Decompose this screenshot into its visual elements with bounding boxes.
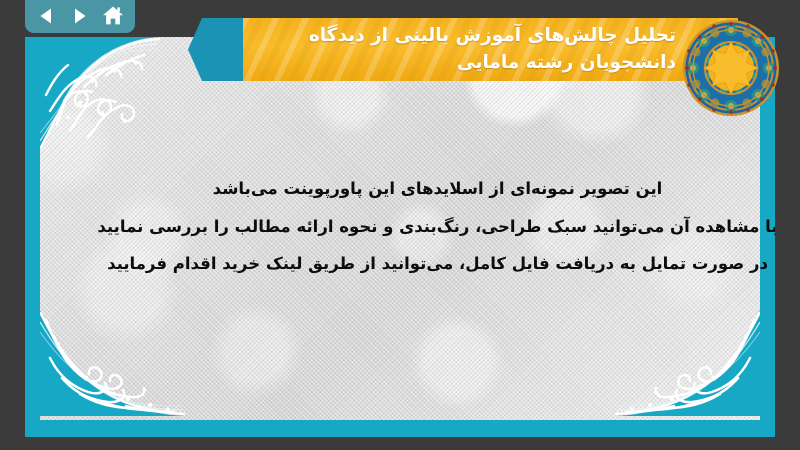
slide-title-banner: تحلیل چالش‌های آموزش بالینی از دیدگاه دا… bbox=[243, 18, 738, 81]
previous-slide-button[interactable] bbox=[34, 4, 60, 28]
triangle-right-icon bbox=[70, 6, 90, 26]
slide-title: تحلیل چالش‌های آموزش بالینی از دیدگاه دا… bbox=[243, 23, 738, 76]
title-line-1: تحلیل چالش‌های آموزش بالینی از دیدگاه bbox=[257, 23, 676, 49]
slide-body-text: این تصویر نمونه‌ای از اسلایدهای این پاور… bbox=[85, 170, 775, 283]
arabesque-bottom-right-icon bbox=[615, 306, 760, 420]
home-icon bbox=[102, 5, 124, 26]
slide-navigation-bar bbox=[25, 0, 135, 33]
slide-content-panel: این تصویر نمونه‌ای از اسلایدهای این پاور… bbox=[40, 37, 760, 420]
arabesque-bottom-left-icon bbox=[40, 306, 185, 420]
slide-canvas: این تصویر نمونه‌ای از اسلایدهای این پاور… bbox=[25, 37, 775, 437]
presentation-viewer: این تصویر نمونه‌ای از اسلایدهای این پاور… bbox=[0, 0, 800, 450]
banner-tail-chevron-icon bbox=[188, 18, 246, 81]
title-line-2: دانشجویان رشته مامایی bbox=[257, 50, 676, 76]
arabesque-top-left-icon bbox=[40, 37, 160, 156]
triangle-left-icon bbox=[37, 6, 57, 26]
persian-shamseh-medallion-icon bbox=[681, 18, 781, 118]
body-line-2: با مشاهده آن می‌توانید سبک طراحی، رنگ‌بن… bbox=[85, 208, 775, 246]
body-line-3: در صورت تمایل به دریافت فایل کامل، می‌تو… bbox=[85, 245, 775, 283]
body-line-1: این تصویر نمونه‌ای از اسلایدهای این پاور… bbox=[85, 170, 775, 208]
next-slide-button[interactable] bbox=[67, 4, 93, 28]
home-button[interactable] bbox=[100, 4, 126, 28]
